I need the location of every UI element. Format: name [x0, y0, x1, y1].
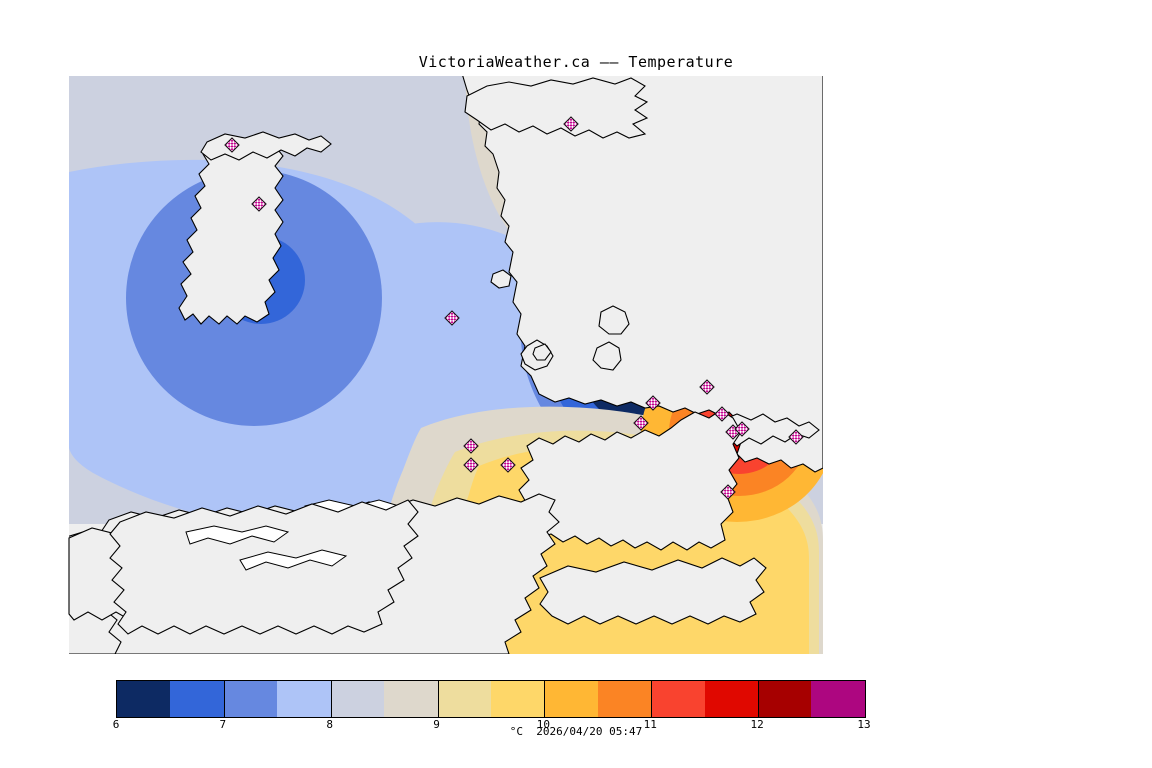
colorbar-tick [224, 681, 225, 717]
temperature-contour-map [69, 76, 823, 654]
colorbar-cell [438, 681, 491, 717]
colorbar-cell [651, 681, 704, 717]
colorbar-cell [544, 681, 597, 717]
colorbar-cell [491, 681, 544, 717]
colorbar-tick [651, 681, 652, 717]
land-north-peninsula [465, 78, 647, 138]
colorbar-strip[interactable] [116, 680, 866, 718]
colorbar-tick [544, 681, 545, 717]
colorbar-tick [438, 681, 439, 717]
colorbar-tick [758, 681, 759, 717]
colorbar-cell [758, 681, 811, 717]
colorbar-caption: °C 2026/04/20 05:47 [0, 725, 1152, 738]
colorbar-cell [811, 681, 864, 717]
colorbar-cell [598, 681, 651, 717]
colorbar-cell [384, 681, 437, 717]
colorbar[interactable]: 678910111213 [116, 680, 864, 718]
colorbar-tick [331, 681, 332, 717]
colorbar-cell [170, 681, 223, 717]
weather-map-page: VictoriaWeather.ca —— Temperature [0, 0, 1152, 768]
colorbar-cell [277, 681, 330, 717]
map-plot-area[interactable] [69, 76, 823, 654]
colorbar-cell [331, 681, 384, 717]
colorbar-cell [224, 681, 277, 717]
colorbar-cell [117, 681, 170, 717]
colorbar-cell [705, 681, 758, 717]
page-title: VictoriaWeather.ca —— Temperature [0, 53, 1152, 71]
land-olympic-peninsula [93, 494, 559, 654]
